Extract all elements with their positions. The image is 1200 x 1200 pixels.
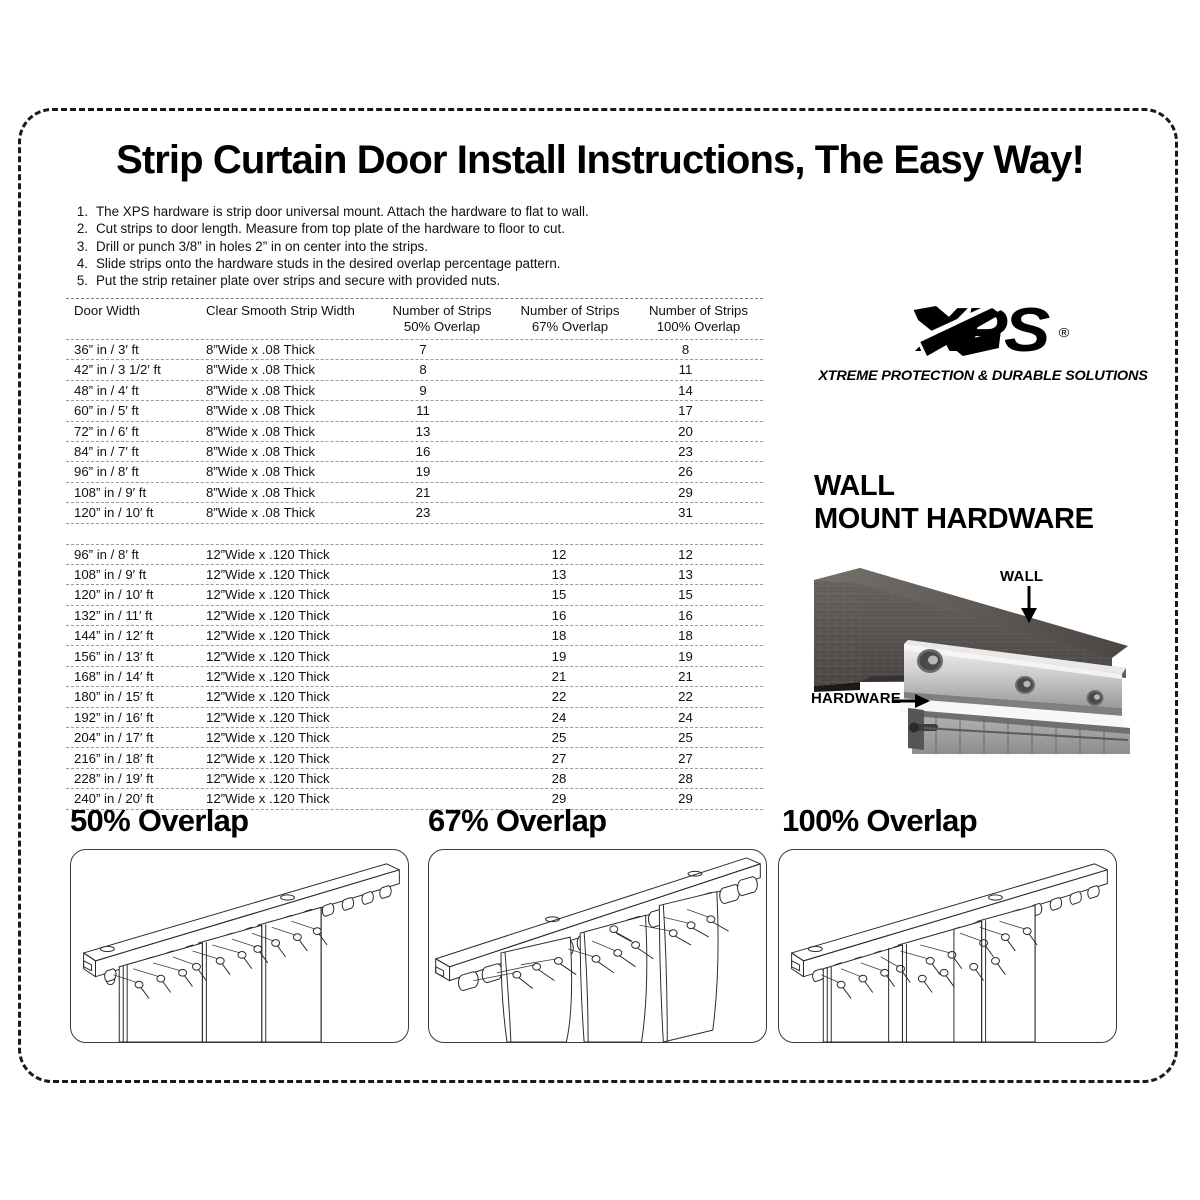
- step-number: 1.: [68, 203, 96, 220]
- cell-strips-100: 24: [634, 710, 763, 725]
- cell-strip-width: 12”Wide x .120 Thick: [206, 689, 378, 704]
- instruction-step: 2. Cut strips to door length. Measure fr…: [68, 220, 788, 237]
- cell-strips-50: 23: [378, 505, 506, 520]
- step-text: Slide strips onto the hardware studs in …: [96, 255, 561, 272]
- th-strips-67-line1: Number of Strips: [506, 303, 634, 319]
- cell-strips-50: [378, 710, 506, 725]
- cell-strips-67: [506, 505, 634, 520]
- cell-strips-100: 26: [634, 464, 763, 479]
- cell-strips-100: 8: [634, 342, 763, 357]
- cell-door-width: 120” in / 10′ ft: [66, 505, 206, 520]
- cell-strips-50: 8: [378, 362, 506, 377]
- cell-strips-50: [378, 587, 506, 602]
- cell-strip-width: 8”Wide x .08 Thick: [206, 505, 378, 520]
- cell-strips-50: [378, 547, 506, 562]
- step-text: Cut strips to door length. Measure from …: [96, 220, 565, 237]
- cell-strip-width: 12”Wide x .120 Thick: [206, 771, 378, 786]
- cell-strips-100: 31: [634, 505, 763, 520]
- cell-strips-100: 18: [634, 628, 763, 643]
- wall-arrow-icon: [1018, 586, 1040, 624]
- cell-strip-width: 8”Wide x .08 Thick: [206, 342, 378, 357]
- cell-door-width: 192” in / 16′ ft: [66, 710, 206, 725]
- table-row: 108” in / 9′ ft8”Wide x .08 Thick2129: [66, 483, 763, 502]
- cell-strips-100: 23: [634, 444, 763, 459]
- th-strips-50-line2: 50% Overlap: [378, 319, 506, 335]
- instruction-step-list: 1. The XPS hardware is strip door univer…: [68, 203, 788, 289]
- overlap-diagram-67: [428, 849, 767, 1043]
- cell-strip-width: 12”Wide x .120 Thick: [206, 567, 378, 582]
- overlap-67-illustration: [429, 850, 766, 1042]
- cell-strips-67: [506, 403, 634, 418]
- xps-logo: XPS ® XTREME PROTECTION & DURABLE SOLUTI…: [818, 300, 1148, 384]
- cell-strip-width: 12”Wide x .120 Thick: [206, 587, 378, 602]
- cell-door-width: 42” in / 3 1/2′ ft: [66, 362, 206, 377]
- cell-strips-67: 22: [506, 689, 634, 704]
- step-text: The XPS hardware is strip door universal…: [96, 203, 589, 220]
- step-number: 5.: [68, 272, 96, 289]
- cell-strip-width: 12”Wide x .120 Thick: [206, 649, 378, 664]
- cell-strips-50: [378, 649, 506, 664]
- cell-strips-100: 21: [634, 669, 763, 684]
- cell-strip-width: 8”Wide x .08 Thick: [206, 464, 378, 479]
- cell-strips-100: 20: [634, 424, 763, 439]
- cell-strips-50: 13: [378, 424, 506, 439]
- cell-strips-67: [506, 464, 634, 479]
- cell-strips-67: 27: [506, 751, 634, 766]
- hardware-arrow-icon: [893, 692, 931, 710]
- th-strips-67-line2: 67% Overlap: [506, 319, 634, 335]
- page-title: Strip Curtain Door Install Instructions,…: [0, 138, 1200, 183]
- overlap-diagram-100: [778, 849, 1117, 1043]
- table-row: 180” in / 15′ ft12”Wide x .120 Thick2222: [66, 687, 763, 706]
- cell-strips-67: [506, 383, 634, 398]
- step-text: Drill or punch 3/8” in holes 2” in on ce…: [96, 238, 428, 255]
- photo-label-wall: WALL: [1000, 568, 1043, 585]
- cell-door-width: 84” in / 7′ ft: [66, 444, 206, 459]
- wall-mount-heading: WALL MOUNT HARDWARE: [814, 470, 1094, 536]
- xps-wordmark-text: XPS ®: [919, 300, 1048, 362]
- cell-strips-67: 19: [506, 649, 634, 664]
- registered-trademark-icon: ®: [1059, 302, 1070, 364]
- table-row: 168” in / 14′ ft12”Wide x .120 Thick2121: [66, 667, 763, 686]
- th-strips-100-line1: Number of Strips: [634, 303, 763, 319]
- cell-strips-50: [378, 608, 506, 623]
- th-strips-50-line1: Number of Strips: [378, 303, 506, 319]
- th-strips-100-line2: 100% Overlap: [634, 319, 763, 335]
- cell-strip-width: 12”Wide x .120 Thick: [206, 628, 378, 643]
- table-row: 132” in / 11′ ft12”Wide x .120 Thick1616: [66, 606, 763, 625]
- cell-strips-50: 19: [378, 464, 506, 479]
- xps-letters: XPS: [919, 296, 1048, 365]
- table-header-row: Door Width Clear Smooth Strip Width Numb…: [66, 299, 763, 339]
- th-strips-100: Number of Strips 100% Overlap: [634, 303, 763, 335]
- instruction-step: 4. Slide strips onto the hardware studs …: [68, 255, 788, 272]
- cell-strips-67: 21: [506, 669, 634, 684]
- th-strips-50: Number of Strips 50% Overlap: [378, 303, 506, 335]
- cell-strip-width: 8”Wide x .08 Thick: [206, 403, 378, 418]
- overlap-100-illustration: [779, 850, 1116, 1042]
- cell-door-width: 60” in / 5′ ft: [66, 403, 206, 418]
- cell-strips-100: 14: [634, 383, 763, 398]
- cell-strips-50: [378, 628, 506, 643]
- table-row: 192” in / 16′ ft12”Wide x .120 Thick2424: [66, 708, 763, 727]
- cell-door-width: 72” in / 6′ ft: [66, 424, 206, 439]
- instruction-step: 3. Drill or punch 3/8” in holes 2” in on…: [68, 238, 788, 255]
- cell-strips-100: 13: [634, 567, 763, 582]
- cell-strip-width: 8”Wide x .08 Thick: [206, 424, 378, 439]
- cell-strip-width: 12”Wide x .120 Thick: [206, 710, 378, 725]
- table-row: 108” in / 9′ ft12”Wide x .120 Thick1313: [66, 565, 763, 584]
- cell-strip-width: 12”Wide x .120 Thick: [206, 751, 378, 766]
- table-row: 72” in / 6′ ft8”Wide x .08 Thick1320: [66, 422, 763, 441]
- cell-strips-67: 16: [506, 608, 634, 623]
- cell-door-width: 228” in / 19′ ft: [66, 771, 206, 786]
- cell-strips-67: [506, 485, 634, 500]
- cell-strips-50: [378, 730, 506, 745]
- cell-strips-50: [378, 771, 506, 786]
- cell-door-width: 108” in / 9′ ft: [66, 485, 206, 500]
- table-row: 60” in / 5′ ft8”Wide x .08 Thick1117: [66, 401, 763, 420]
- cell-strips-50: [378, 669, 506, 684]
- cell-strips-100: 16: [634, 608, 763, 623]
- table-row: 96” in / 8′ ft8”Wide x .08 Thick1926: [66, 462, 763, 481]
- cell-strips-50: 21: [378, 485, 506, 500]
- cell-door-width: 48” in / 4′ ft: [66, 383, 206, 398]
- cell-door-width: 96” in / 8′ ft: [66, 464, 206, 479]
- table-row: 204” in / 17′ ft12”Wide x .120 Thick2525: [66, 728, 763, 747]
- step-number: 4.: [68, 255, 96, 272]
- table-row: 144” in / 12′ ft12”Wide x .120 Thick1818: [66, 626, 763, 645]
- overlap-50-illustration: [71, 850, 408, 1042]
- step-number: 3.: [68, 238, 96, 255]
- table-row: 36” in / 3′ ft8”Wide x .08 Thick78: [66, 340, 763, 359]
- cell-strip-width: 8”Wide x .08 Thick: [206, 362, 378, 377]
- cell-strips-67: 25: [506, 730, 634, 745]
- wall-mount-heading-line1: WALL: [814, 470, 1094, 503]
- cell-strips-67: [506, 424, 634, 439]
- cell-strips-67: 12: [506, 547, 634, 562]
- table-body-12in: 96” in / 8′ ft12”Wide x .120 Thick121210…: [66, 544, 763, 810]
- cell-door-width: 144” in / 12′ ft: [66, 628, 206, 643]
- cell-strip-width: 12”Wide x .120 Thick: [206, 730, 378, 745]
- cell-strips-67: [506, 342, 634, 357]
- overlap-title-50: 50% Overlap: [70, 803, 248, 839]
- table-row: 84” in / 7′ ft8”Wide x .08 Thick1623: [66, 442, 763, 461]
- cell-strips-67: 28: [506, 771, 634, 786]
- table-row: 156” in / 13′ ft12”Wide x .120 Thick1919: [66, 646, 763, 665]
- instruction-step: 5. Put the strip retainer plate over str…: [68, 272, 788, 289]
- cell-door-width: 120” in / 10′ ft: [66, 587, 206, 602]
- cell-strip-width: 12”Wide x .120 Thick: [206, 669, 378, 684]
- wall-mount-photo: [812, 558, 1147, 756]
- cell-strips-67: 15: [506, 587, 634, 602]
- cell-strips-67: 13: [506, 567, 634, 582]
- th-strip-width: Clear Smooth Strip Width: [206, 303, 378, 335]
- cell-strips-50: 9: [378, 383, 506, 398]
- cell-door-width: 132” in / 11′ ft: [66, 608, 206, 623]
- cell-strip-width: 8”Wide x .08 Thick: [206, 444, 378, 459]
- instruction-step: 1. The XPS hardware is strip door univer…: [68, 203, 788, 220]
- instruction-sheet: Strip Curtain Door Install Instructions,…: [0, 0, 1200, 1200]
- cell-door-width: 180” in / 15′ ft: [66, 689, 206, 704]
- cell-strips-50: 16: [378, 444, 506, 459]
- cell-strips-100: 15: [634, 587, 763, 602]
- cell-strips-100: 29: [634, 791, 763, 806]
- cell-strips-67: [506, 362, 634, 377]
- table-row: 48” in / 4′ ft8”Wide x .08 Thick914: [66, 381, 763, 400]
- photo-label-hardware: HARDWARE: [811, 690, 901, 707]
- cell-door-width: 108” in / 9′ ft: [66, 567, 206, 582]
- table-row: 216” in / 18′ ft12”Wide x .120 Thick2727: [66, 748, 763, 767]
- overlap-title-67: 67% Overlap: [428, 803, 606, 839]
- cell-door-width: 36” in / 3′ ft: [66, 342, 206, 357]
- cell-strips-67: 24: [506, 710, 634, 725]
- overlap-diagram-50: [70, 849, 409, 1043]
- table-row: 228” in / 19′ ft12”Wide x .120 Thick2828: [66, 769, 763, 788]
- xps-tagline: XTREME PROTECTION & DURABLE SOLUTIONS: [815, 368, 1152, 384]
- cell-strips-100: 27: [634, 751, 763, 766]
- cell-strips-50: [378, 751, 506, 766]
- cell-strips-100: 17: [634, 403, 763, 418]
- cell-strips-100: 11: [634, 362, 763, 377]
- cell-strips-100: 19: [634, 649, 763, 664]
- cell-strip-width: 12”Wide x .120 Thick: [206, 547, 378, 562]
- cell-door-width: 204” in / 17′ ft: [66, 730, 206, 745]
- cell-strips-100: 22: [634, 689, 763, 704]
- cell-strips-50: 7: [378, 342, 506, 357]
- wall-mount-heading-line2: MOUNT HARDWARE: [814, 503, 1094, 536]
- strip-count-table: Door Width Clear Smooth Strip Width Numb…: [66, 298, 763, 810]
- cell-door-width: 96” in / 8′ ft: [66, 547, 206, 562]
- cell-strips-100: 29: [634, 485, 763, 500]
- cell-strips-100: 12: [634, 547, 763, 562]
- th-strips-67: Number of Strips 67% Overlap: [506, 303, 634, 335]
- cell-strips-100: 25: [634, 730, 763, 745]
- cell-strip-width: 8”Wide x .08 Thick: [206, 383, 378, 398]
- table-body-8in: 36” in / 3′ ft8”Wide x .08 Thick7842” in…: [66, 339, 763, 524]
- overlap-title-100: 100% Overlap: [782, 803, 977, 839]
- cell-strips-67: 18: [506, 628, 634, 643]
- cell-door-width: 216” in / 18′ ft: [66, 751, 206, 766]
- cell-strips-50: [378, 689, 506, 704]
- step-number: 2.: [68, 220, 96, 237]
- cell-strips-67: [506, 444, 634, 459]
- table-section-gap: [66, 524, 763, 544]
- th-door-width: Door Width: [66, 303, 206, 335]
- cell-strips-50: [378, 567, 506, 582]
- cell-door-width: 168” in / 14′ ft: [66, 669, 206, 684]
- cell-strip-width: 12”Wide x .120 Thick: [206, 608, 378, 623]
- table-row: 42” in / 3 1/2′ ft8”Wide x .08 Thick811: [66, 360, 763, 379]
- table-row: 120” in / 10′ ft12”Wide x .120 Thick1515: [66, 585, 763, 604]
- step-text: Put the strip retainer plate over strips…: [96, 272, 500, 289]
- table-row: 96” in / 8′ ft12”Wide x .120 Thick1212: [66, 545, 763, 564]
- cell-strips-50: 11: [378, 403, 506, 418]
- cell-strips-100: 28: [634, 771, 763, 786]
- cell-strip-width: 8”Wide x .08 Thick: [206, 485, 378, 500]
- cell-door-width: 156” in / 13′ ft: [66, 649, 206, 664]
- table-row: 120” in / 10′ ft8”Wide x .08 Thick2331: [66, 503, 763, 522]
